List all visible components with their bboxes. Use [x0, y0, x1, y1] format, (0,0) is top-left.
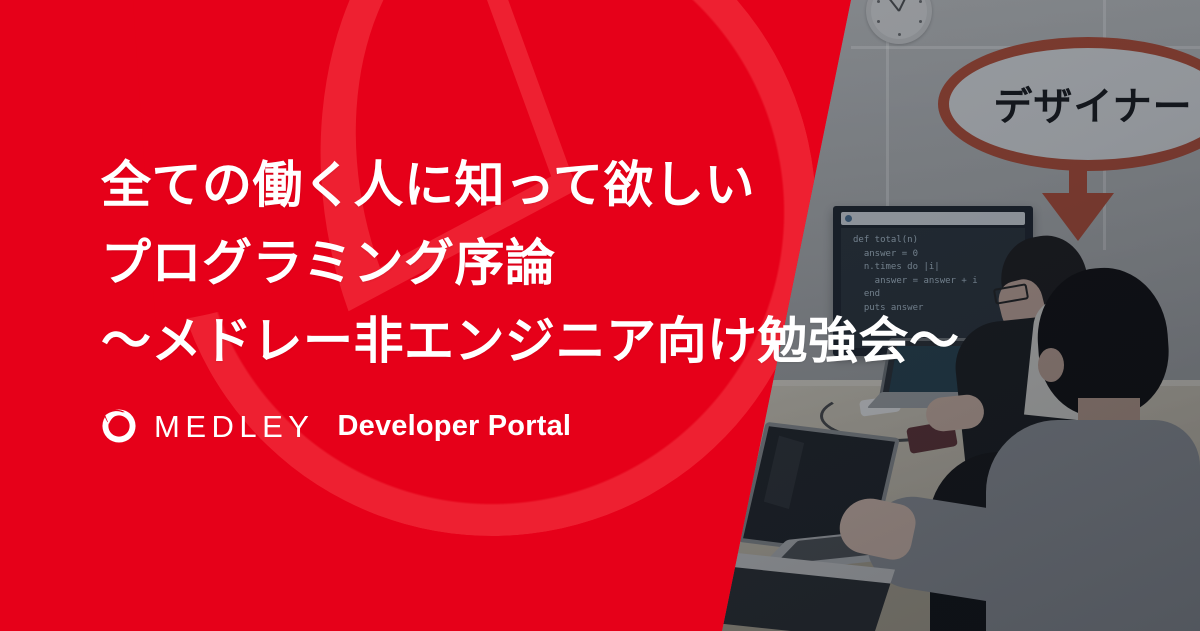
- og-image-card: def total(n) answer = 0 n.times do |i| a…: [0, 0, 1200, 631]
- medley-swirl-ring-icon: [101, 408, 137, 444]
- card-content: 全ての働く人に知って欲しい プログラミング序論 〜メドレー非エンジニア向け勉強会…: [0, 0, 1200, 631]
- title-line-2: プログラミング序論: [101, 224, 960, 302]
- title-line-1: 全ての働く人に知って欲しい: [101, 146, 960, 224]
- brand-name: MEDLEY: [154, 411, 314, 442]
- title-line-3: 〜メドレー非エンジニア向け勉強会〜: [101, 302, 960, 380]
- brand-product-name: Developer Portal: [337, 412, 571, 441]
- brand-lockup: MEDLEY Developer Portal: [101, 403, 571, 449]
- page-title: 全ての働く人に知って欲しい プログラミング序論 〜メドレー非エンジニア向け勉強会…: [101, 146, 960, 380]
